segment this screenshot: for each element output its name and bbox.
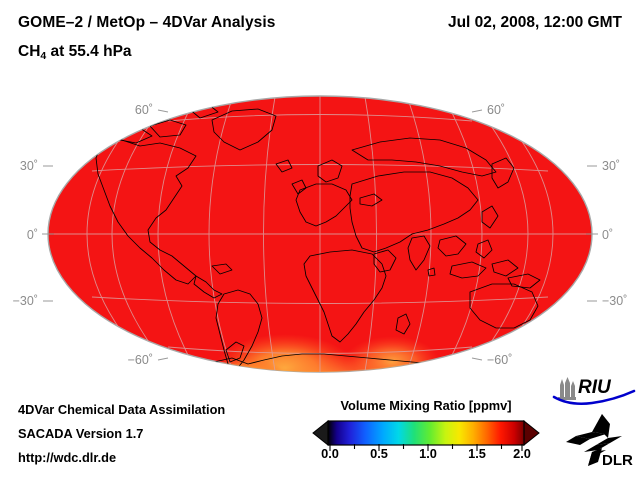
lat-label-right-m60: −60˚ (487, 353, 512, 367)
pressure-level-label: at 55.4 hPa (46, 43, 131, 60)
footer-line-url[interactable]: http://wdc.dlr.de (18, 450, 116, 465)
lat-label-left-0: 0˚ (27, 228, 38, 242)
species-subscript: 4 (40, 50, 46, 62)
timestamp: Jul 02, 2008, 12:00 GMT (448, 14, 622, 32)
mollweide-map[interactable]: 60˚ 30˚ 0˚ −30˚ −60˚ 60˚ 30˚ 0˚ −30˚ −60… (0, 80, 640, 385)
lat-label-left-m60: −60˚ (128, 353, 153, 367)
dlr-logo[interactable]: DLR (562, 412, 638, 468)
lat-label-right-30: 30˚ (602, 159, 620, 173)
lat-label-left-60: 60˚ (135, 103, 153, 117)
colorbar-title: Volume Mixing Ratio [ppmv] (312, 398, 540, 413)
graticule (48, 91, 592, 377)
colorbar-tick-label-3: 1.5 (468, 446, 486, 461)
species-label: CH (18, 43, 40, 60)
riu-logo[interactable]: RIU (552, 377, 636, 407)
colorbar-tick-label-4: 2.0 (513, 446, 531, 461)
anomaly-layer (205, 334, 450, 385)
colorbar-tick-label-2: 1.0 (419, 446, 437, 461)
colorbar-scale[interactable] (312, 420, 540, 446)
page-subtitle: CH4 at 55.4 hPa (18, 43, 132, 61)
colorbar-tick-label-1: 0.5 (370, 446, 388, 461)
lat-label-right-60: 60˚ (487, 103, 505, 117)
lat-label-right-0: 0˚ (602, 228, 613, 242)
riu-tower-icon (558, 377, 576, 400)
colorbar-max-arrow (524, 421, 539, 445)
colorbar: Volume Mixing Ratio [ppmv] (312, 398, 540, 474)
footer-line-version: SACADA Version 1.7 (18, 426, 143, 441)
lat-label-right-m30: −30˚ (602, 294, 627, 308)
map-panel: 60˚ 30˚ 0˚ −30˚ −60˚ 60˚ 30˚ 0˚ −30˚ −60… (0, 80, 640, 385)
lat-label-left-m30: −30˚ (13, 294, 38, 308)
colorbar-min-arrow (313, 421, 328, 445)
footer-line-product: 4DVar Chemical Data Assimilation (18, 402, 225, 417)
colorbar-gradient (328, 421, 524, 445)
lat-label-left-30: 30˚ (20, 159, 38, 173)
riu-wordmark: RIU (578, 377, 612, 398)
colorbar-tick-label-0: 0.0 (321, 446, 339, 461)
dlr-wordmark: DLR (602, 452, 633, 468)
page-title: GOME–2 / MetOp – 4DVar Analysis (18, 14, 276, 32)
